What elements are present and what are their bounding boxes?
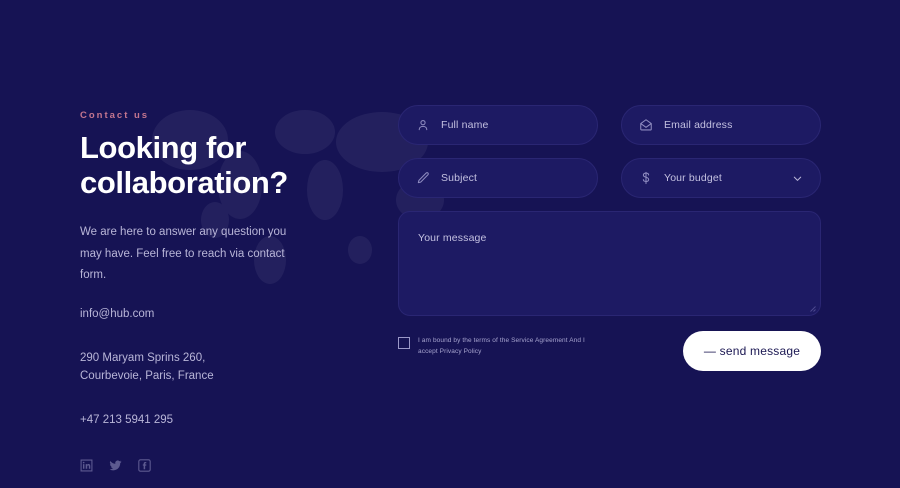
- address-line-1: 290 Maryam Sprins 260,: [80, 350, 370, 368]
- full-name-placeholder: Full name: [441, 119, 488, 131]
- contact-address: 290 Maryam Sprins 260, Courbevoie, Paris…: [80, 350, 370, 386]
- consent-checkbox[interactable]: [398, 337, 410, 349]
- envelope-icon: [639, 118, 653, 132]
- facebook-icon[interactable]: [138, 459, 151, 472]
- form-footer: I am bound by the terms of the Service A…: [398, 331, 821, 371]
- social-links: [80, 459, 370, 472]
- page-title: Looking for collaboration?: [80, 131, 370, 200]
- twitter-icon[interactable]: [109, 459, 122, 472]
- subject-placeholder: Subject: [441, 172, 477, 184]
- consent-group[interactable]: I am bound by the terms of the Service A…: [398, 331, 598, 357]
- contact-phone[interactable]: +47 213 5941 295: [80, 412, 370, 430]
- consent-text: I am bound by the terms of the Service A…: [418, 336, 598, 357]
- subject-input[interactable]: Subject: [398, 158, 598, 198]
- contact-email[interactable]: info@hub.com: [80, 306, 370, 324]
- intro-paragraph: We are here to answer any question you m…: [80, 222, 300, 286]
- budget-placeholder: Your budget: [664, 172, 722, 184]
- form-row-1: Full name Email address: [398, 105, 821, 145]
- email-placeholder: Email address: [664, 119, 732, 131]
- email-input[interactable]: Email address: [621, 105, 821, 145]
- user-icon: [416, 118, 430, 132]
- dollar-icon: [639, 171, 653, 185]
- linkedin-icon[interactable]: [80, 459, 93, 472]
- contact-info-column: Contact us Looking for collaboration? We…: [80, 110, 370, 472]
- pencil-icon: [416, 171, 430, 185]
- full-name-input[interactable]: Full name: [398, 105, 598, 145]
- message-placeholder: Your message: [418, 232, 487, 244]
- resize-handle-icon[interactable]: [807, 303, 816, 312]
- send-message-button[interactable]: — send message: [683, 331, 821, 371]
- message-textarea[interactable]: Your message: [398, 211, 821, 316]
- chevron-down-icon[interactable]: [792, 173, 803, 184]
- form-row-2: Subject Your budget: [398, 158, 821, 198]
- eyebrow-label: Contact us: [80, 110, 370, 121]
- contact-form: Full name Email address: [398, 105, 821, 371]
- budget-select[interactable]: Your budget: [621, 158, 821, 198]
- contact-section: Contact us Looking for collaboration? We…: [0, 0, 900, 488]
- address-line-2: Courbevoie, Paris, France: [80, 368, 370, 386]
